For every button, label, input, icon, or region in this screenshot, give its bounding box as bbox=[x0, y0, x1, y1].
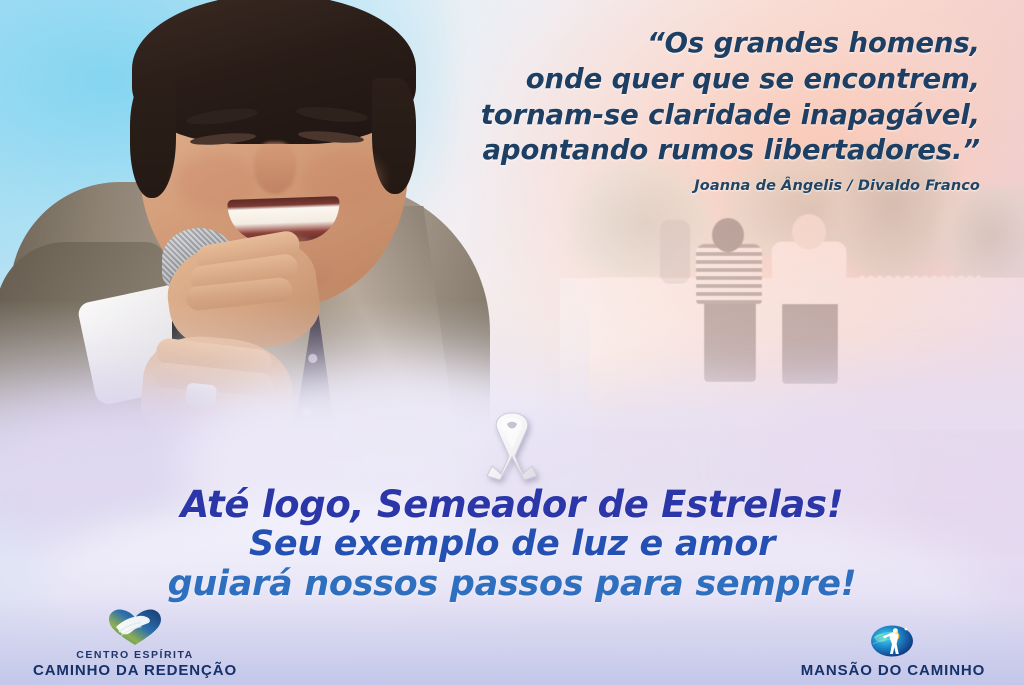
quote-line-4: apontando rumos libertadores.” bbox=[420, 133, 980, 169]
tagline-line-1: Até logo, Semeador de Estrelas! bbox=[0, 484, 1024, 525]
tagline-line-2: Seu exemplo de luz e amor bbox=[0, 525, 1024, 564]
background-person-striped-torso bbox=[696, 244, 762, 304]
memorial-poster: “Os grandes homens, onde quer que se enc… bbox=[0, 0, 1024, 685]
globe-with-figure-and-flame-icon bbox=[768, 618, 1018, 658]
tagline-line-3: guiará nossos passos para sempre! bbox=[0, 565, 1024, 604]
quote-block: “Os grandes homens, onde quer que se enc… bbox=[420, 26, 980, 194]
logo-centro-espirita-caminho-da-redencao[interactable]: CENTRO ESPÍRITA CAMINHO DA REDENÇÃO bbox=[10, 607, 260, 679]
quote-line-2: onde quer que se encontrem, bbox=[420, 62, 980, 98]
quote-attribution: Joanna de Ângelis / Divaldo Franco bbox=[420, 178, 980, 194]
background-person-white-legs bbox=[782, 300, 838, 384]
tagline-block: Até logo, Semeador de Estrelas! Seu exem… bbox=[0, 484, 1024, 604]
logo-left-line-1: CENTRO ESPÍRITA bbox=[10, 649, 260, 661]
background-person-striped-head bbox=[712, 218, 744, 252]
white-awareness-ribbon-icon bbox=[479, 404, 545, 482]
background-person-distant bbox=[660, 220, 690, 284]
background-person-striped-legs bbox=[704, 300, 756, 382]
logo-right-line-1: MANSÃO DO CAMINHO bbox=[768, 662, 1018, 679]
background-fence bbox=[860, 276, 980, 328]
logo-left-line-2: CAMINHO DA REDENÇÃO bbox=[10, 662, 260, 679]
background-person-white-head bbox=[792, 214, 826, 250]
quote-line-1: “Os grandes homens, bbox=[420, 26, 980, 62]
logo-mansao-do-caminho[interactable]: MANSÃO DO CAMINHO bbox=[768, 618, 1018, 679]
heart-with-hands-icon bbox=[10, 607, 260, 647]
nose bbox=[254, 142, 296, 194]
quote-line-3: tornam-se claridade inapagável, bbox=[420, 98, 980, 134]
background-person-white-torso bbox=[772, 242, 846, 304]
hair-side-left bbox=[130, 78, 176, 198]
